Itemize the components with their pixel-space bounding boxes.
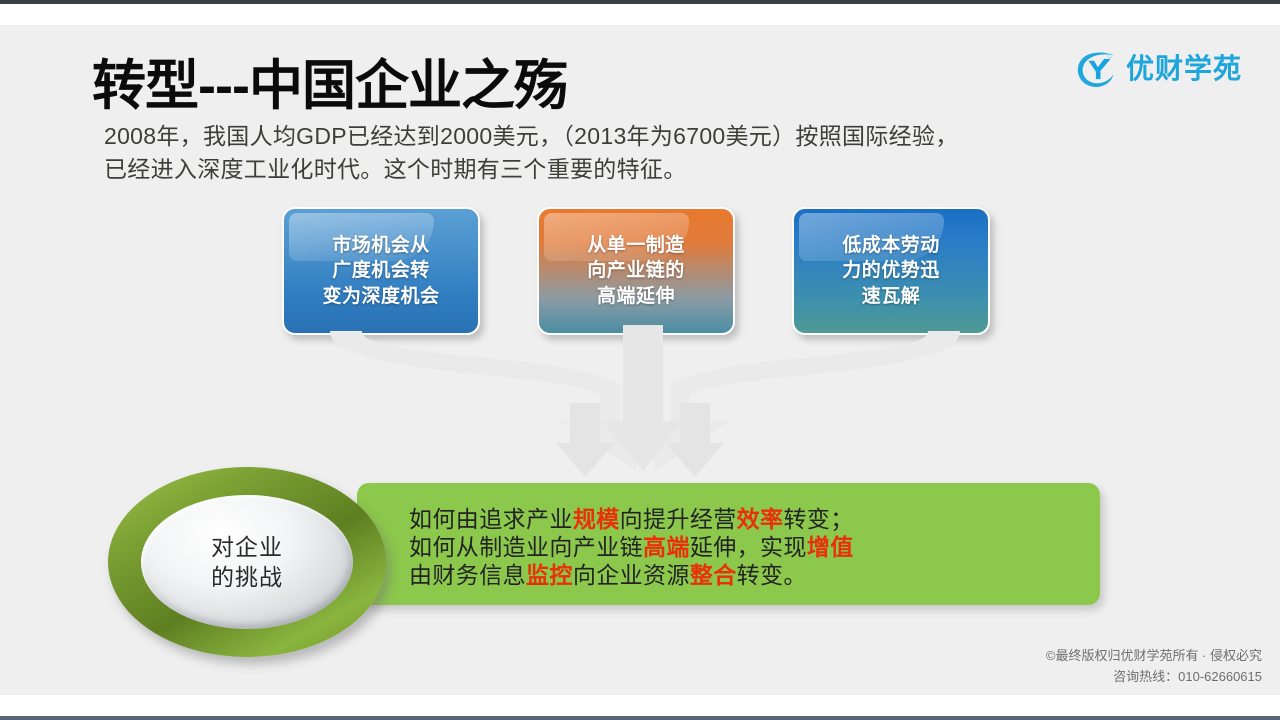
bottom-chrome-bar bbox=[0, 716, 1280, 720]
banner-text-run: 延伸，实现 bbox=[690, 534, 807, 560]
box3-line-2: 力的优势迅 bbox=[794, 258, 988, 283]
intro-paragraph: 2008年，我国人均GDP已经达到2000美元，（2013年为6700美元）按照… bbox=[104, 120, 1264, 187]
swoosh-circle-icon bbox=[1073, 47, 1117, 91]
banner-text-run: 由财务信息 bbox=[409, 562, 526, 588]
challenge-banner: 如何由追求产业规模向提升经营效率转变；如何从制造业向产业链高端延伸，实现增值由财… bbox=[357, 483, 1100, 605]
box3-line-3: 速瓦解 bbox=[794, 284, 988, 309]
banner-keyword-highlight: 增值 bbox=[807, 534, 854, 560]
feature-box-label: 市场机会从 广度机会转 变为深度机会 bbox=[284, 233, 478, 309]
feature-box-value-chain[interactable]: 从单一制造 向产业链的 高端延伸 bbox=[537, 207, 735, 335]
box1-line-1: 市场机会从 bbox=[284, 233, 478, 258]
oval-inner-face: 对企业 的挑战 bbox=[141, 495, 353, 629]
feature-box-label: 低成本劳动 力的优势迅 速瓦解 bbox=[794, 233, 988, 309]
banner-keyword-highlight: 整合 bbox=[690, 562, 737, 588]
bottom-white-strip bbox=[0, 695, 1280, 716]
banner-text-run: 转变。 bbox=[737, 562, 807, 588]
banner-line-1: 如何由追求产业规模向提升经营效率转变； bbox=[409, 505, 854, 533]
banner-line-2: 如何从制造业向产业链高端延伸，实现增值 bbox=[409, 533, 854, 561]
flow-connector-graphic bbox=[0, 325, 1280, 495]
banner-line-3: 由财务信息监控向企业资源整合转变。 bbox=[409, 561, 854, 589]
box3-line-1: 低成本劳动 bbox=[794, 233, 988, 258]
box2-line-3: 高端延伸 bbox=[539, 284, 733, 309]
feature-box-label: 从单一制造 向产业链的 高端延伸 bbox=[539, 233, 733, 309]
footer-hotline: 咨询热线：010-62660615 bbox=[1046, 666, 1262, 687]
feature-box-market-opportunity[interactable]: 市场机会从 广度机会转 变为深度机会 bbox=[282, 207, 480, 335]
brand-logo: 优财学苑 bbox=[1073, 47, 1242, 91]
banner-text-run: 如何由追求产业 bbox=[409, 506, 573, 532]
feature-box-labor-cost[interactable]: 低成本劳动 力的优势迅 速瓦解 bbox=[792, 207, 990, 335]
oval-line-2: 的挑战 bbox=[211, 562, 283, 592]
top-white-strip bbox=[0, 4, 1280, 25]
slide-canvas: 转型---中国企业之殇 优财学苑 2008年，我国人均GDP已经达到2000美元… bbox=[0, 25, 1280, 695]
banner-keyword-highlight: 高端 bbox=[643, 534, 690, 560]
oval-label: 对企业 的挑战 bbox=[211, 532, 283, 593]
oval-line-1: 对企业 bbox=[211, 532, 283, 562]
banner-text-run: 如何从制造业向产业链 bbox=[409, 534, 643, 560]
box2-line-2: 向产业链的 bbox=[539, 258, 733, 283]
banner-text-run: 向提升经营 bbox=[620, 506, 737, 532]
footer-copyright: ©最终版权归优财学苑所有 · 侵权必究 bbox=[1046, 645, 1262, 666]
footer: ©最终版权归优财学苑所有 · 侵权必究 咨询热线：010-62660615 bbox=[1046, 645, 1262, 688]
box1-line-3: 变为深度机会 bbox=[284, 284, 478, 309]
slide-root: 转型---中国企业之殇 优财学苑 2008年，我国人均GDP已经达到2000美元… bbox=[0, 0, 1280, 720]
banner-keyword-highlight: 效率 bbox=[737, 506, 784, 532]
challenge-banner-text: 如何由追求产业规模向提升经营效率转变；如何从制造业向产业链高端延伸，实现增值由财… bbox=[409, 505, 854, 589]
intro-line-1: 2008年，我国人均GDP已经达到2000美元，（2013年为6700美元）按照… bbox=[104, 120, 1264, 153]
challenge-oval-callout[interactable]: 对企业 的挑战 bbox=[108, 467, 386, 657]
box1-line-2: 广度机会转 bbox=[284, 258, 478, 283]
banner-text-run: 转变； bbox=[783, 506, 853, 532]
brand-name: 优财学苑 bbox=[1126, 55, 1242, 83]
banner-keyword-highlight: 监控 bbox=[526, 562, 573, 588]
box2-line-1: 从单一制造 bbox=[539, 233, 733, 258]
banner-text-run: 向企业资源 bbox=[573, 562, 690, 588]
banner-keyword-highlight: 规模 bbox=[573, 506, 620, 532]
intro-line-2: 已经进入深度工业化时代。这个时期有三个重要的特征。 bbox=[104, 153, 1264, 186]
page-title: 转型---中国企业之殇 bbox=[92, 41, 567, 120]
